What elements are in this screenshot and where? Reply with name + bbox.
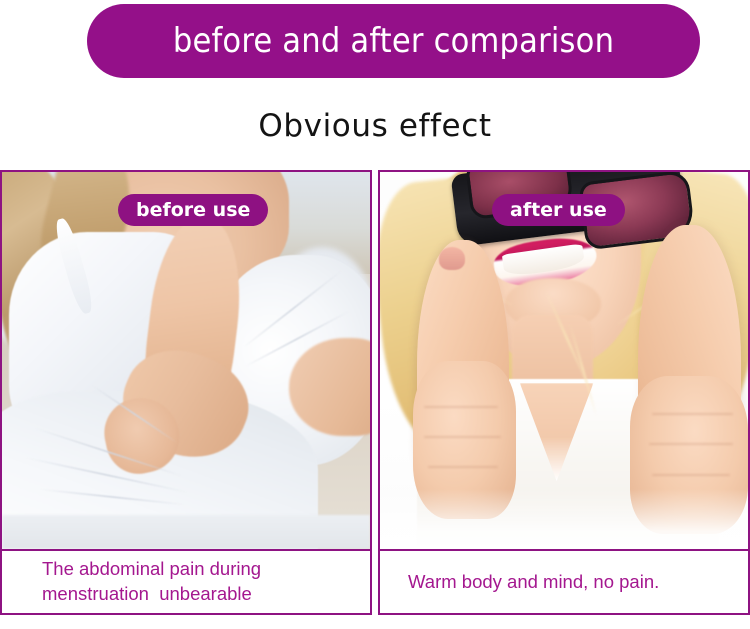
after-photo: after use (380, 172, 748, 549)
page-title: before and after comparison (173, 24, 614, 58)
knuckle-crease (424, 436, 501, 438)
after-caption-text: Warm body and mind, no pain. (408, 570, 659, 595)
after-use-badge-label: after use (510, 201, 607, 220)
after-use-badge: after use (492, 194, 625, 226)
bed-sheet (2, 515, 370, 549)
after-caption: Warm body and mind, no pain. (380, 549, 748, 613)
thumbnail-left (439, 247, 465, 270)
subtitle-row: Obvious effect (0, 90, 750, 162)
after-panel: after use Warm body and mind, no pain. (378, 170, 750, 615)
knuckle-crease (652, 413, 733, 415)
before-photo: before use (2, 172, 370, 549)
knuckle-crease (424, 406, 498, 408)
page-title-pill: before and after comparison (87, 4, 700, 78)
before-caption: The abdominal pain during menstruation u… (2, 549, 370, 613)
knuckle-crease (652, 474, 729, 476)
before-caption-text: The abdominal pain during menstruation u… (42, 557, 261, 607)
knuckle-crease (428, 466, 498, 468)
photo-bottom-glare (380, 489, 748, 549)
before-panel: before use The abdominal pain during men… (0, 170, 372, 615)
header: before and after comparison (0, 0, 750, 90)
before-use-badge: before use (118, 194, 268, 226)
subtitle: Obvious effect (258, 111, 491, 142)
comparison-section: before use The abdominal pain during men… (0, 170, 750, 615)
before-use-badge-label: before use (136, 201, 250, 220)
